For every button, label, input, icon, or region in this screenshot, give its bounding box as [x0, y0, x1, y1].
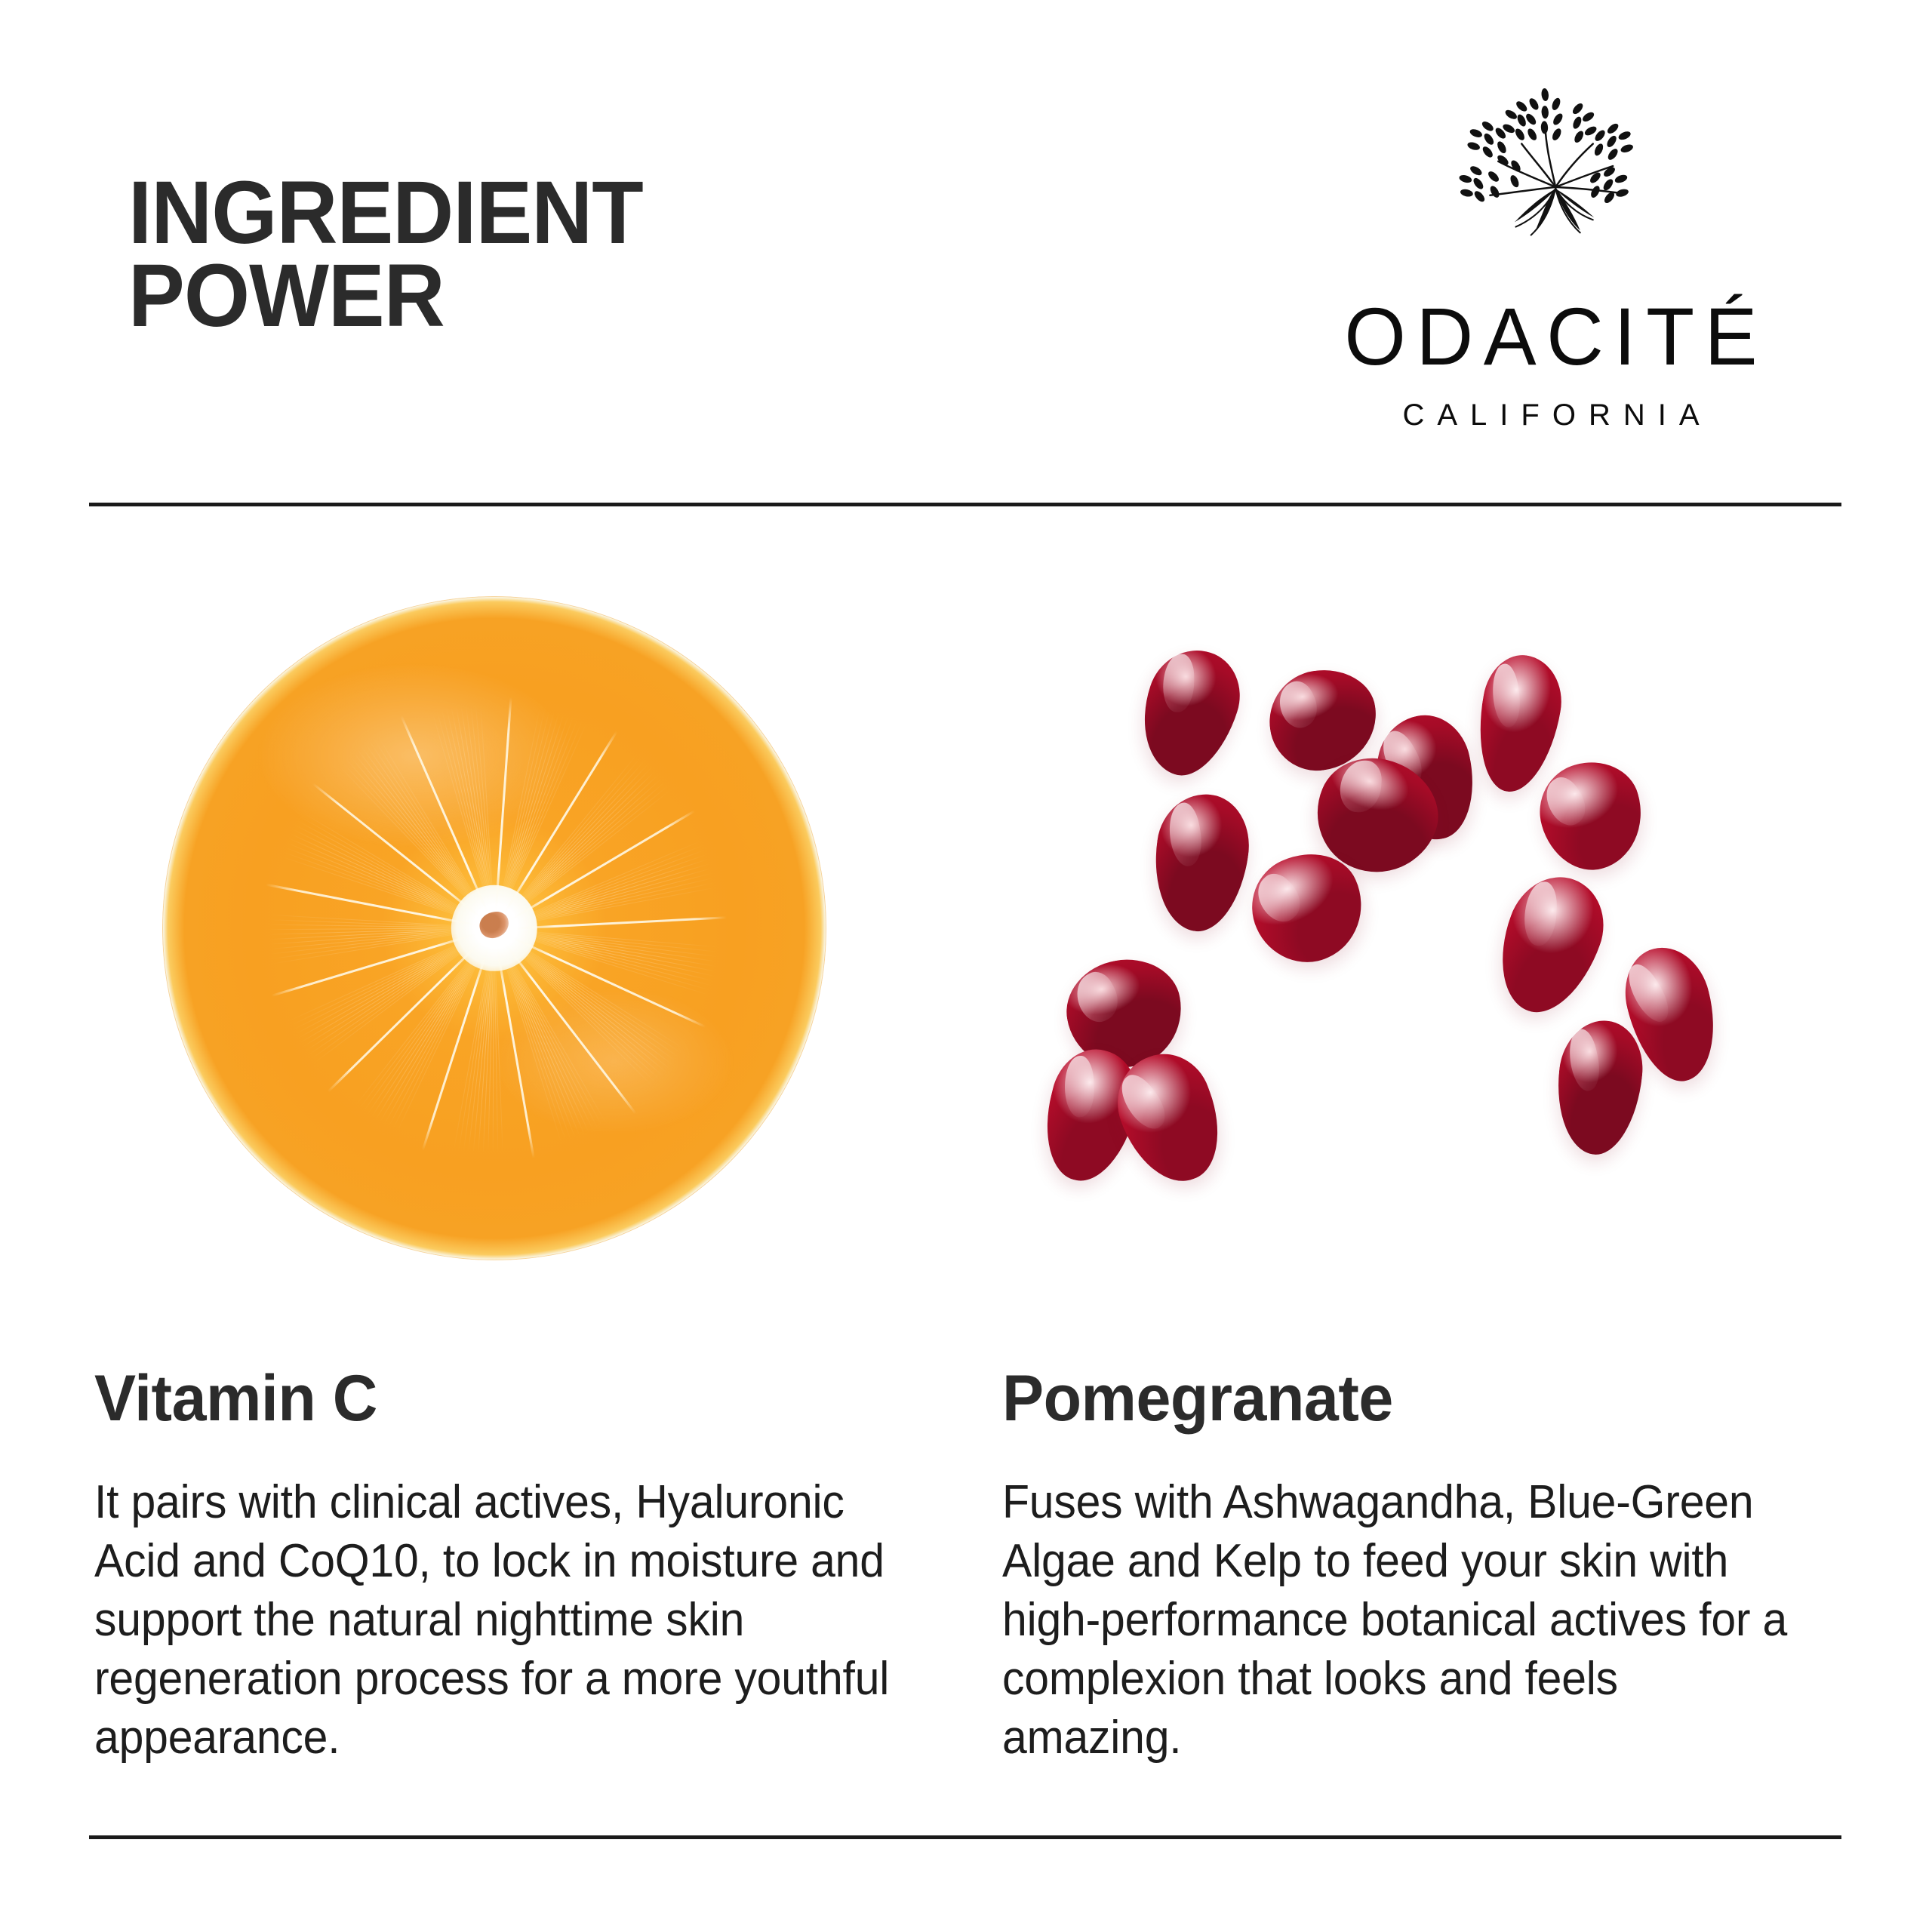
ingredient-title: Vitamin C	[94, 1366, 913, 1431]
orange-pulp-fan	[471, 928, 494, 1260]
brand-wordmark: ODACITÉ	[1262, 296, 1840, 377]
page-title: INGREDIENT POWER	[128, 172, 989, 337]
ingredient-description: Fuses with Ashwagandha, Blue-Green Algae…	[1002, 1473, 1805, 1768]
pomegranate-aril	[1551, 1017, 1647, 1159]
divider-top	[89, 503, 1841, 506]
pomegranate-aril	[1146, 788, 1256, 937]
orange-slice-photo	[162, 596, 826, 1260]
ingredient-card-pomegranate: Pomegranate Fuses with Ashwagandha, Blue…	[1002, 1366, 1847, 1768]
pomegranate-aril	[1528, 750, 1655, 881]
pomegranate-aril	[1127, 638, 1252, 787]
orange-pulp-fan	[438, 601, 494, 928]
divider-bottom	[89, 1835, 1841, 1839]
brand-location: CALIFORNIA	[1253, 400, 1849, 430]
brand-logo: ODACITÉ CALIFORNIA	[1253, 68, 1849, 430]
ingredient-power-card: INGREDIENT POWER	[0, 0, 1932, 1932]
page-title-line-2: POWER	[128, 255, 989, 338]
orange-pulp-fan	[494, 696, 731, 928]
ingredient-imagery	[0, 574, 1932, 1328]
ingredient-description: It pairs with clinical actives, Hyaluron…	[94, 1473, 905, 1768]
pomegranate-aril	[1482, 863, 1617, 1026]
pomegranate-seeds-photo	[1034, 574, 1887, 1298]
ingredient-card-vitamin-c: Vitamin C It pairs with clinical actives…	[94, 1366, 947, 1768]
ingredient-title: Pomegranate	[1002, 1366, 1814, 1431]
botanical-umbel-icon	[1434, 68, 1668, 264]
